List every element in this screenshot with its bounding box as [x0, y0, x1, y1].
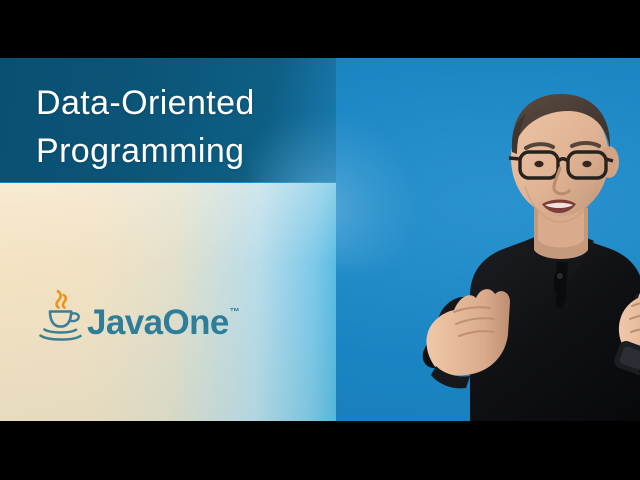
presenter-illustration [320, 58, 640, 421]
cup-body-icon [50, 312, 79, 327]
presenter-head [509, 94, 619, 222]
trademark-symbol: ™ [230, 308, 240, 318]
java-coffee-cup-icon [38, 286, 84, 344]
steam-swirl-icon [57, 291, 66, 307]
title-line-1: Data-Oriented [36, 79, 255, 127]
presenter-figure [320, 58, 640, 421]
javaone-wordmark: JavaOne ™ [87, 305, 240, 341]
letterbox-bar-bottom [0, 421, 640, 480]
slide-title: Data-Oriented Programming [36, 79, 255, 175]
saucer-icon [41, 330, 81, 340]
slide-stage: Data-Oriented Programming [0, 58, 640, 421]
video-frame: Data-Oriented Programming [0, 0, 640, 480]
javaone-logo: JavaOne ™ [38, 282, 240, 344]
title-line-2: Programming [36, 127, 255, 175]
letterbox-bar-top [0, 0, 640, 58]
javaone-brand-text: JavaOne [87, 305, 229, 341]
